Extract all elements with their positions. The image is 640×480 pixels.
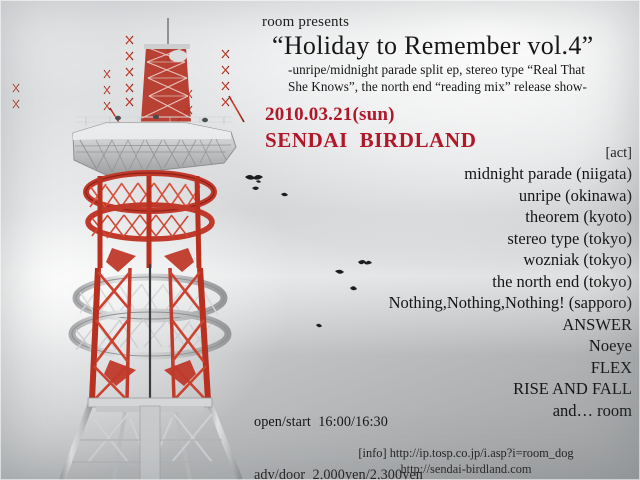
act-section-label: [act] — [192, 143, 632, 163]
subtitle-line-2: She Knows”, the north end “reading mix” … — [288, 79, 638, 96]
info-block: [info] http://ip.tosp.co.jp/i.asp?i=room… — [306, 446, 626, 477]
page-title: “Holiday to Remember vol.4” — [272, 31, 593, 61]
list-item: the north end (tokyo) — [192, 271, 632, 293]
subtitle-block: -unripe/midnight parade split ep, stereo… — [288, 62, 638, 95]
list-item: FLEX — [192, 357, 632, 379]
list-item: theorem (kyoto) — [192, 206, 632, 228]
list-item: Nothing,Nothing,Nothing! (sapporo) — [192, 292, 632, 314]
list-item: wozniak (tokyo) — [192, 249, 632, 271]
info-url-primary[interactable]: [info] http://ip.tosp.co.jp/i.asp?i=room… — [358, 446, 573, 460]
subtitle-line-1: -unripe/midnight parade split ep, stereo… — [288, 62, 638, 79]
list-item: stereo type (tokyo) — [192, 228, 632, 250]
flyer-canvas: room presents “Holiday to Remember vol.4… — [0, 0, 640, 480]
list-item: midnight parade (niigata) — [192, 163, 632, 185]
list-item: unripe (okinawa) — [192, 185, 632, 207]
list-item: Noeye — [192, 335, 632, 357]
event-date: 2010.03.21(sun) — [265, 104, 395, 126]
list-item: ANSWER — [192, 314, 632, 336]
presents-line: room presents — [262, 14, 349, 31]
info-url-secondary[interactable]: http://sendai-birdland.com — [306, 462, 626, 478]
open-start-time: open/start 16:00/16:30 — [254, 414, 423, 432]
